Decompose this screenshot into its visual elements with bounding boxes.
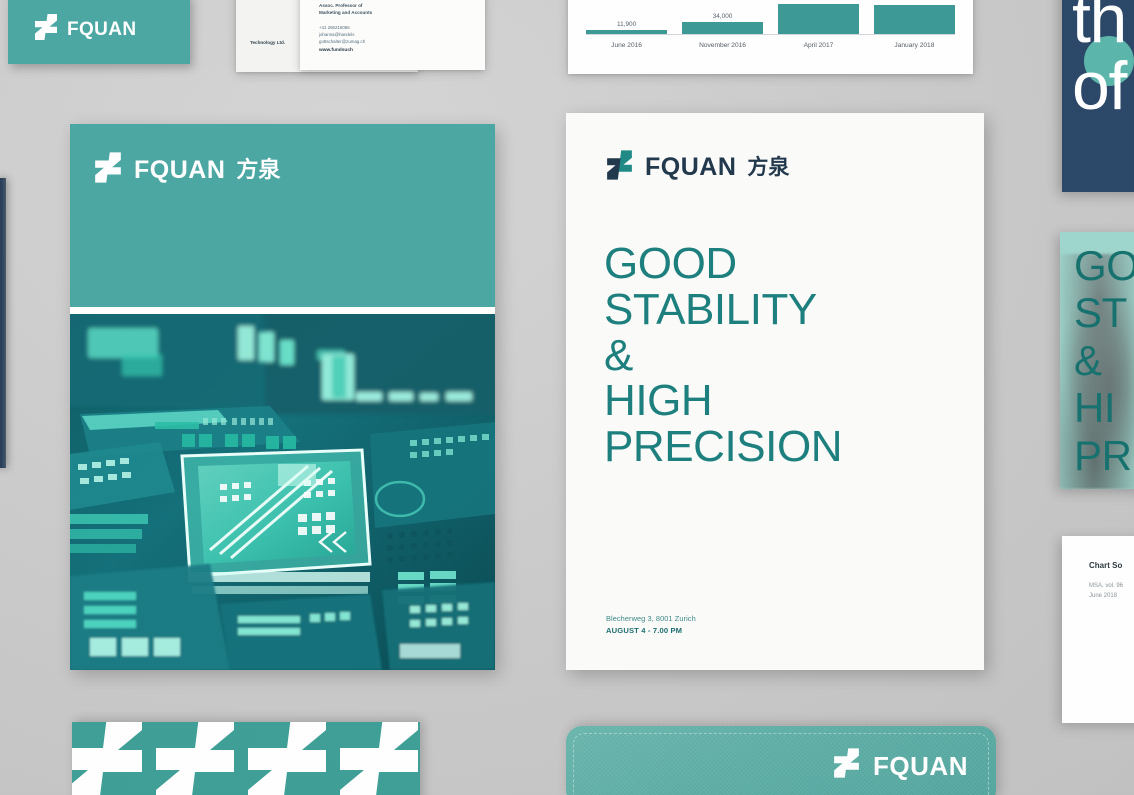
chart-category-label: November 2016 xyxy=(682,42,763,49)
fquan-chevron-logo-icon xyxy=(833,748,860,783)
poster-logo-wordmark: FQUAN xyxy=(645,155,736,180)
poster-headline-line-5: PRECISION xyxy=(604,424,966,470)
poster-logo-chinese: 方泉 xyxy=(747,157,789,178)
pattern-motif xyxy=(154,722,246,795)
teal-panel-line-5: PR xyxy=(1074,432,1134,479)
navy-line-1: th xyxy=(1072,0,1126,53)
business-card-role: Assoc. Professor of Marketing and Accoun… xyxy=(319,3,372,16)
event-poster: FQUAN 方泉 GOODSTABILITY&HIGHPRECISION Ble… xyxy=(566,113,984,670)
navy-panel-type: th of xyxy=(1072,0,1126,119)
bar-chart: 11,90034,000 June 2016November 2016April… xyxy=(586,0,955,52)
poster-address: Blecherweg 3, 8001 Zurich xyxy=(606,613,696,625)
brochure-cover: FQUAN 方泉 xyxy=(70,124,495,670)
business-card-contact: +41 266216086 johanna@handels gottschalt… xyxy=(319,24,365,45)
pattern-motif xyxy=(338,722,420,795)
chart-bar-column: 34,000 xyxy=(682,13,763,34)
brand-logo-card: FQUAN xyxy=(8,0,190,64)
teal-panel-type: GOST&HIPR xyxy=(1074,242,1134,479)
chart-source-title: Chart So xyxy=(1089,561,1122,570)
chart-axis-line xyxy=(586,34,955,35)
business-card-front: Prof.Dr.Johanna Schlimpfer Assoc. Profes… xyxy=(300,0,485,70)
chart-bar-value-label: 34,000 xyxy=(713,13,733,20)
teal-type-panel: GOST&HIPR xyxy=(1060,232,1134,489)
fabric-logo-wordmark: FQUAN xyxy=(873,753,968,779)
pattern-repeat-row xyxy=(72,722,420,795)
pattern-motif xyxy=(246,722,338,795)
fabric-merch-item: FQUAN xyxy=(566,726,996,795)
chart-bar-column: 11,900 xyxy=(586,21,667,34)
poster-headline-line-3: & xyxy=(604,333,966,379)
chart-sheet: 11,90034,000 June 2016November 2016April… xyxy=(568,0,973,74)
navy-edge-card xyxy=(0,178,6,468)
chart-bar-column xyxy=(874,3,955,34)
circuit-board-photo xyxy=(70,314,495,670)
fquan-chevron-logo-icon xyxy=(34,14,58,45)
business-card-back-label: Technology Ltd. xyxy=(250,40,285,45)
fquan-chevron-logo-icon xyxy=(94,152,122,188)
brochure-header-block: FQUAN 方泉 xyxy=(70,124,495,307)
brochure-logo-lockup: FQUAN 方泉 xyxy=(70,124,495,188)
chart-category-labels: June 2016November 2016April 2017January … xyxy=(586,42,955,49)
fabric-logo-lockup: FQUAN xyxy=(833,748,968,783)
poster-footer: Blecherweg 3, 8001 Zurich AUGUST 4 - 7.0… xyxy=(606,613,696,637)
teal-panel-line-1: GO xyxy=(1074,242,1134,289)
brochure-logo-wordmark: FQUAN xyxy=(134,158,225,183)
poster-logo-lockup: FQUAN 方泉 xyxy=(566,113,984,185)
poster-headline: GOODSTABILITY&HIGHPRECISION xyxy=(604,241,966,470)
chart-source-subtitle: MSA, vol. 96 June 2018 xyxy=(1089,581,1123,601)
chart-source-sheet: Chart So MSA, vol. 96 June 2018 xyxy=(1062,536,1134,723)
mockup-canvas: FQUAN Technology Ltd. Prof.Dr.Johanna Sc… xyxy=(0,0,1134,795)
chart-bar xyxy=(874,5,955,34)
navy-type-panel: th of xyxy=(1062,0,1134,192)
chart-category-label: January 2018 xyxy=(874,42,955,49)
poster-headline-line-2: STABILITY xyxy=(604,287,966,333)
logo-lockup: FQUAN xyxy=(8,0,190,45)
teal-panel-line-4: HI xyxy=(1074,384,1134,431)
chart-bar-value-label: 11,900 xyxy=(617,21,636,28)
teal-panel-line-3: & xyxy=(1074,337,1134,384)
pattern-motif xyxy=(72,722,154,795)
chart-bar xyxy=(778,4,859,34)
fquan-chevron-logo-icon xyxy=(606,150,633,185)
poster-date: AUGUST 4 - 7.00 PM xyxy=(606,625,696,637)
teal-panel-line-2: ST xyxy=(1074,289,1134,336)
logo-wordmark: FQUAN xyxy=(67,20,136,39)
poster-headline-line-1: GOOD xyxy=(604,241,966,287)
pattern-card xyxy=(72,722,420,795)
business-card-website: www.fundsuch xyxy=(319,48,353,53)
chart-bar-column xyxy=(778,2,859,34)
chart-bars-group: 11,90034,000 xyxy=(586,0,955,34)
chart-bar xyxy=(682,22,763,34)
chart-category-label: June 2016 xyxy=(586,42,667,49)
chart-category-label: April 2017 xyxy=(778,42,859,49)
poster-headline-line-4: HIGH xyxy=(604,378,966,424)
navy-line-2: of xyxy=(1072,53,1126,120)
brochure-logo-chinese: 方泉 xyxy=(236,159,280,181)
